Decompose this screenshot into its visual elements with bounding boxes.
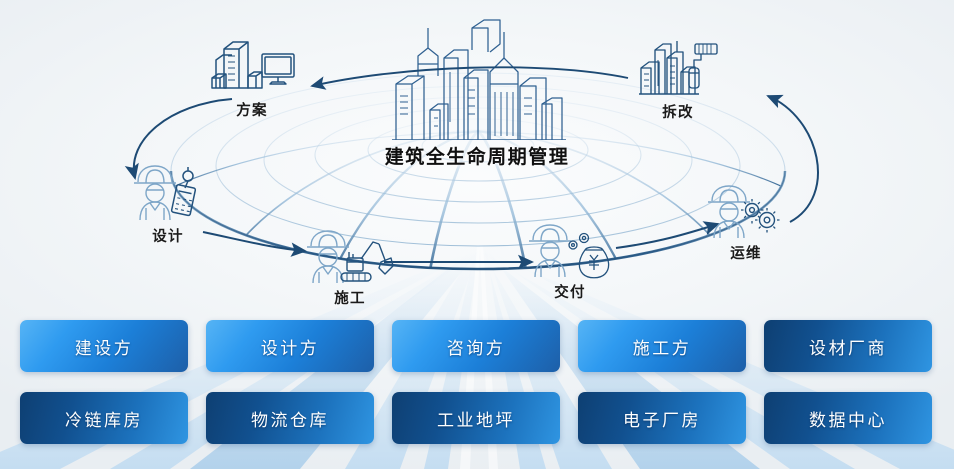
card-shejifang[interactable]: 设计方 (206, 320, 374, 372)
card-wuliu-cangku[interactable]: 物流仓库 (206, 392, 374, 444)
card-shuju-zhongxin[interactable]: 数据中心 (764, 392, 932, 444)
card-shigongfang[interactable]: 施工方 (578, 320, 746, 372)
card-zixunfang[interactable]: 咨询方 (392, 320, 560, 372)
card-label: 设材厂商 (809, 334, 887, 359)
card-shecaichangshang[interactable]: 设材厂商 (764, 320, 932, 372)
card-label: 数据中心 (809, 406, 887, 431)
card-label: 施工方 (633, 334, 692, 359)
card-lenglian-kufang[interactable]: 冷链库房 (20, 392, 188, 444)
capability-cards: 建设方 设计方 咨询方 施工方 设材厂商 冷链库房 物流仓库 工业地坪 电子厂房… (0, 0, 954, 469)
diagram-page: 方案 设计 (0, 0, 954, 469)
card-label: 冷链库房 (65, 406, 143, 431)
card-dianzi-changfang[interactable]: 电子厂房 (578, 392, 746, 444)
card-label: 工业地坪 (437, 406, 515, 431)
card-label: 设计方 (261, 334, 320, 359)
card-gongye-diping[interactable]: 工业地坪 (392, 392, 560, 444)
card-label: 咨询方 (447, 334, 506, 359)
card-label: 物流仓库 (251, 406, 329, 431)
card-jianshefang[interactable]: 建设方 (20, 320, 188, 372)
card-label: 建设方 (75, 334, 134, 359)
card-label: 电子厂房 (623, 406, 701, 431)
